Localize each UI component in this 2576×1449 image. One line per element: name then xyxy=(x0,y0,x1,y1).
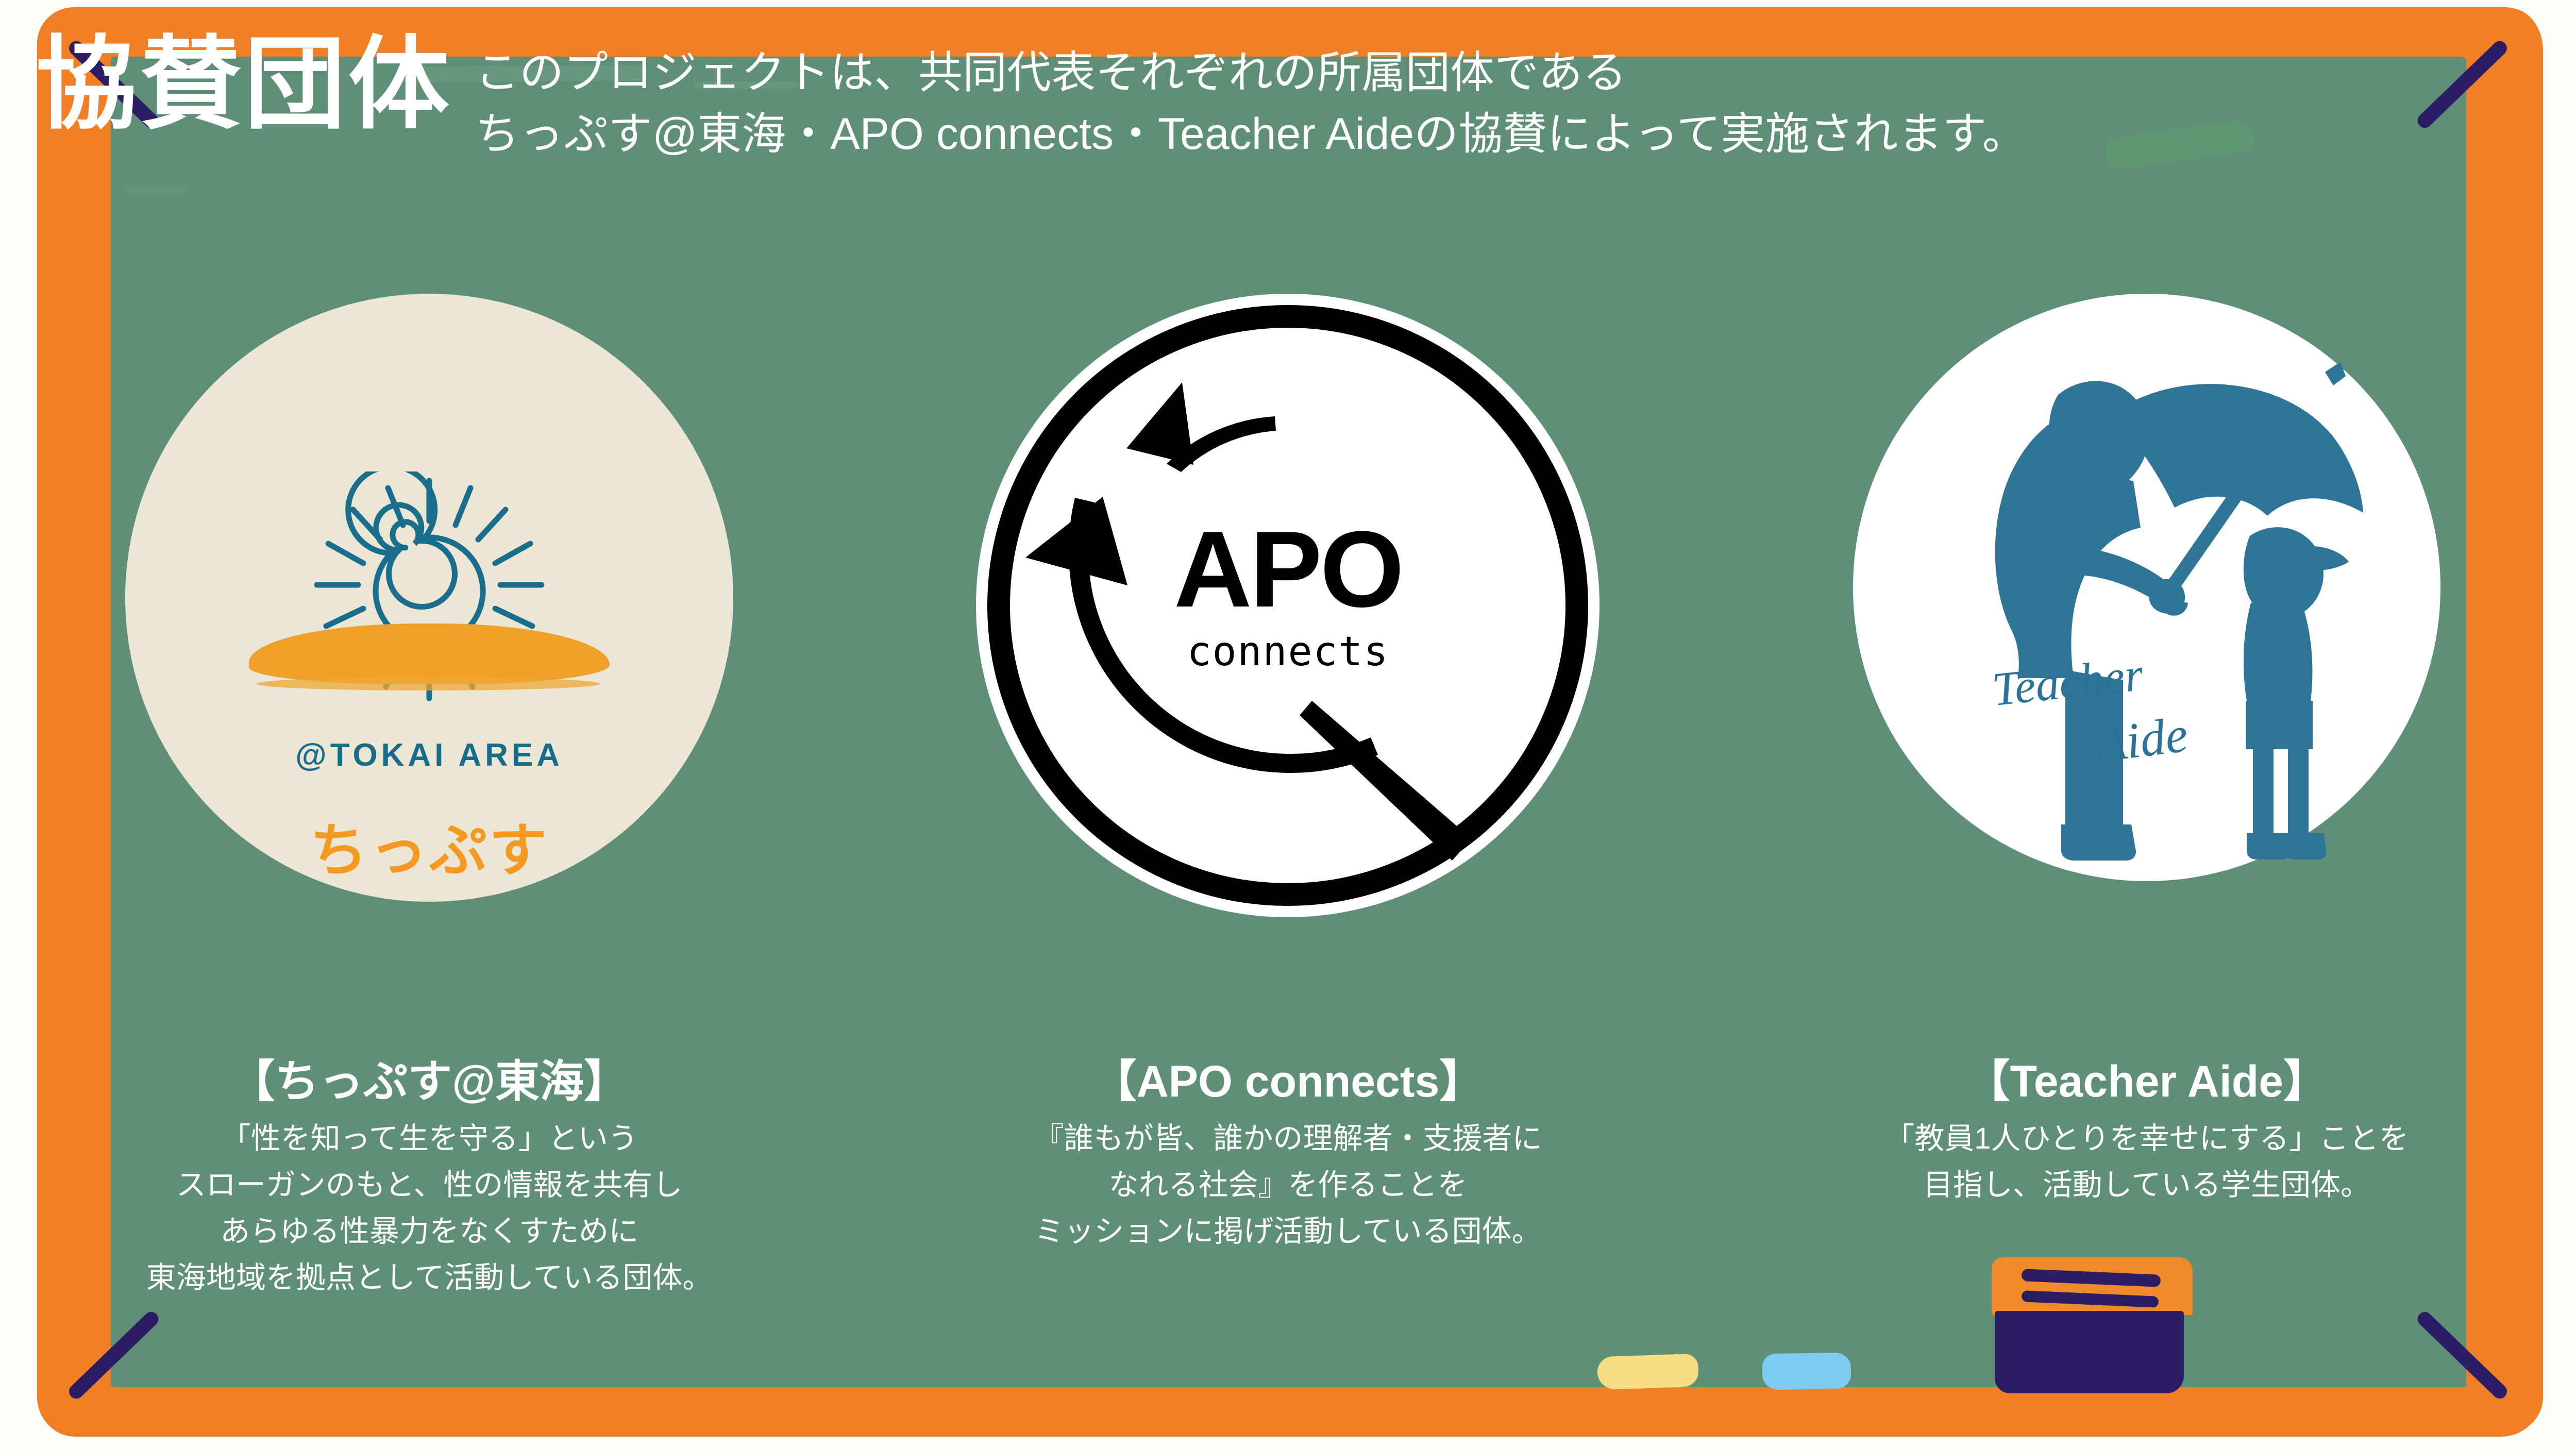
logo-wordmark: APO xyxy=(976,515,1600,624)
eraser-top xyxy=(1992,1257,2193,1315)
chalk-stick-blue-icon xyxy=(1762,1353,1851,1390)
caption-line: 「性を知って生を守る」という xyxy=(26,1116,833,1162)
chalk-stick-yellow-icon xyxy=(1597,1354,1699,1390)
caption-title: 【ちっぷす@東海】 xyxy=(26,1056,833,1107)
eraser-base xyxy=(1995,1311,2184,1393)
logo-column-teacher-aide: Teacher Aide xyxy=(1718,294,2576,917)
logo-brand-label: ちっぷす xyxy=(125,804,733,887)
caption-line: 目指し、活動している学生団体。 xyxy=(1743,1162,2550,1208)
logo-column-apo: APO connects xyxy=(858,294,1717,917)
header: 協賛団体 このプロジェクトは、共同代表それぞれの所属団体である ちっぷす@東海・… xyxy=(36,22,2555,164)
caption-chippusu: 【ちっぷす@東海】 「性を知って生を守る」という スローガンのもと、性の情報を共… xyxy=(0,1056,858,1301)
logo-tagline: connects xyxy=(976,629,1600,675)
slide-canvas: 協賛団体 このプロジェクトは、共同代表それぞれの所属団体である ちっぷす@東海・… xyxy=(0,0,2576,1449)
logo-teacher-aide: Teacher Aide xyxy=(1853,294,2440,881)
logo-chippusu-tokai: @TOKAI AREA ちっぷす xyxy=(125,294,733,902)
caption-body: 「教員1人ひとりを幸せにする」ことを 目指し、活動している学生団体。 xyxy=(1743,1116,2550,1208)
page-title: 協賛団体 xyxy=(36,34,452,135)
caption-line: スローガンのもと、性の情報を共有し xyxy=(26,1162,833,1208)
logo-script-line-2: Aide xyxy=(2092,705,2191,774)
teacher-child-umbrella-icon xyxy=(1853,294,2440,881)
caption-line: あらゆる性暴力をなくすために xyxy=(26,1208,833,1255)
logo-column-chippusu: @TOKAI AREA ちっぷす xyxy=(0,294,858,917)
caption-line: ミッションに掲げ活動している団体。 xyxy=(884,1208,1691,1255)
caption-title: 【APO connects】 xyxy=(884,1056,1691,1107)
caption-title: 【Teacher Aide】 xyxy=(1743,1056,2550,1107)
caption-line: 「教員1人ひとりを幸せにする」ことを xyxy=(1743,1116,2550,1162)
caption-body: 「性を知って生を守る」という スローガンのもと、性の情報を共有し あらゆる性暴力… xyxy=(26,1116,833,1301)
caption-line: なれる社会』を作ることを xyxy=(884,1162,1691,1208)
logo-apo-connects: APO connects xyxy=(976,294,1600,917)
header-subtitle-line-2: ちっぷす@東海・APO connects・Teacher Aideの協賛によって… xyxy=(475,104,2027,165)
caption-line: 『誰もが皆、誰かの理解者・支援者に xyxy=(884,1116,1691,1162)
header-subtitle-line-1: このプロジェクトは、共同代表それぞれの所属団体である xyxy=(475,42,2027,104)
blackboard-eraser-icon xyxy=(1992,1257,2193,1392)
header-subtitle: このプロジェクトは、共同代表それぞれの所属団体である ちっぷす@東海・APO c… xyxy=(475,42,2027,164)
chalk-smudge xyxy=(126,186,188,195)
caption-apo: 【APO connects】 『誰もが皆、誰かの理解者・支援者に なれる社会』を… xyxy=(858,1056,1717,1301)
caption-body: 『誰もが皆、誰かの理解者・支援者に なれる社会』を作ることを ミッションに掲げ活… xyxy=(884,1116,1691,1255)
logo-row: @TOKAI AREA ちっぷす xyxy=(0,294,2576,917)
caption-line: 東海地域を拠点として活動している団体。 xyxy=(26,1255,833,1301)
logo-area-label: @TOKAI AREA xyxy=(125,737,733,773)
